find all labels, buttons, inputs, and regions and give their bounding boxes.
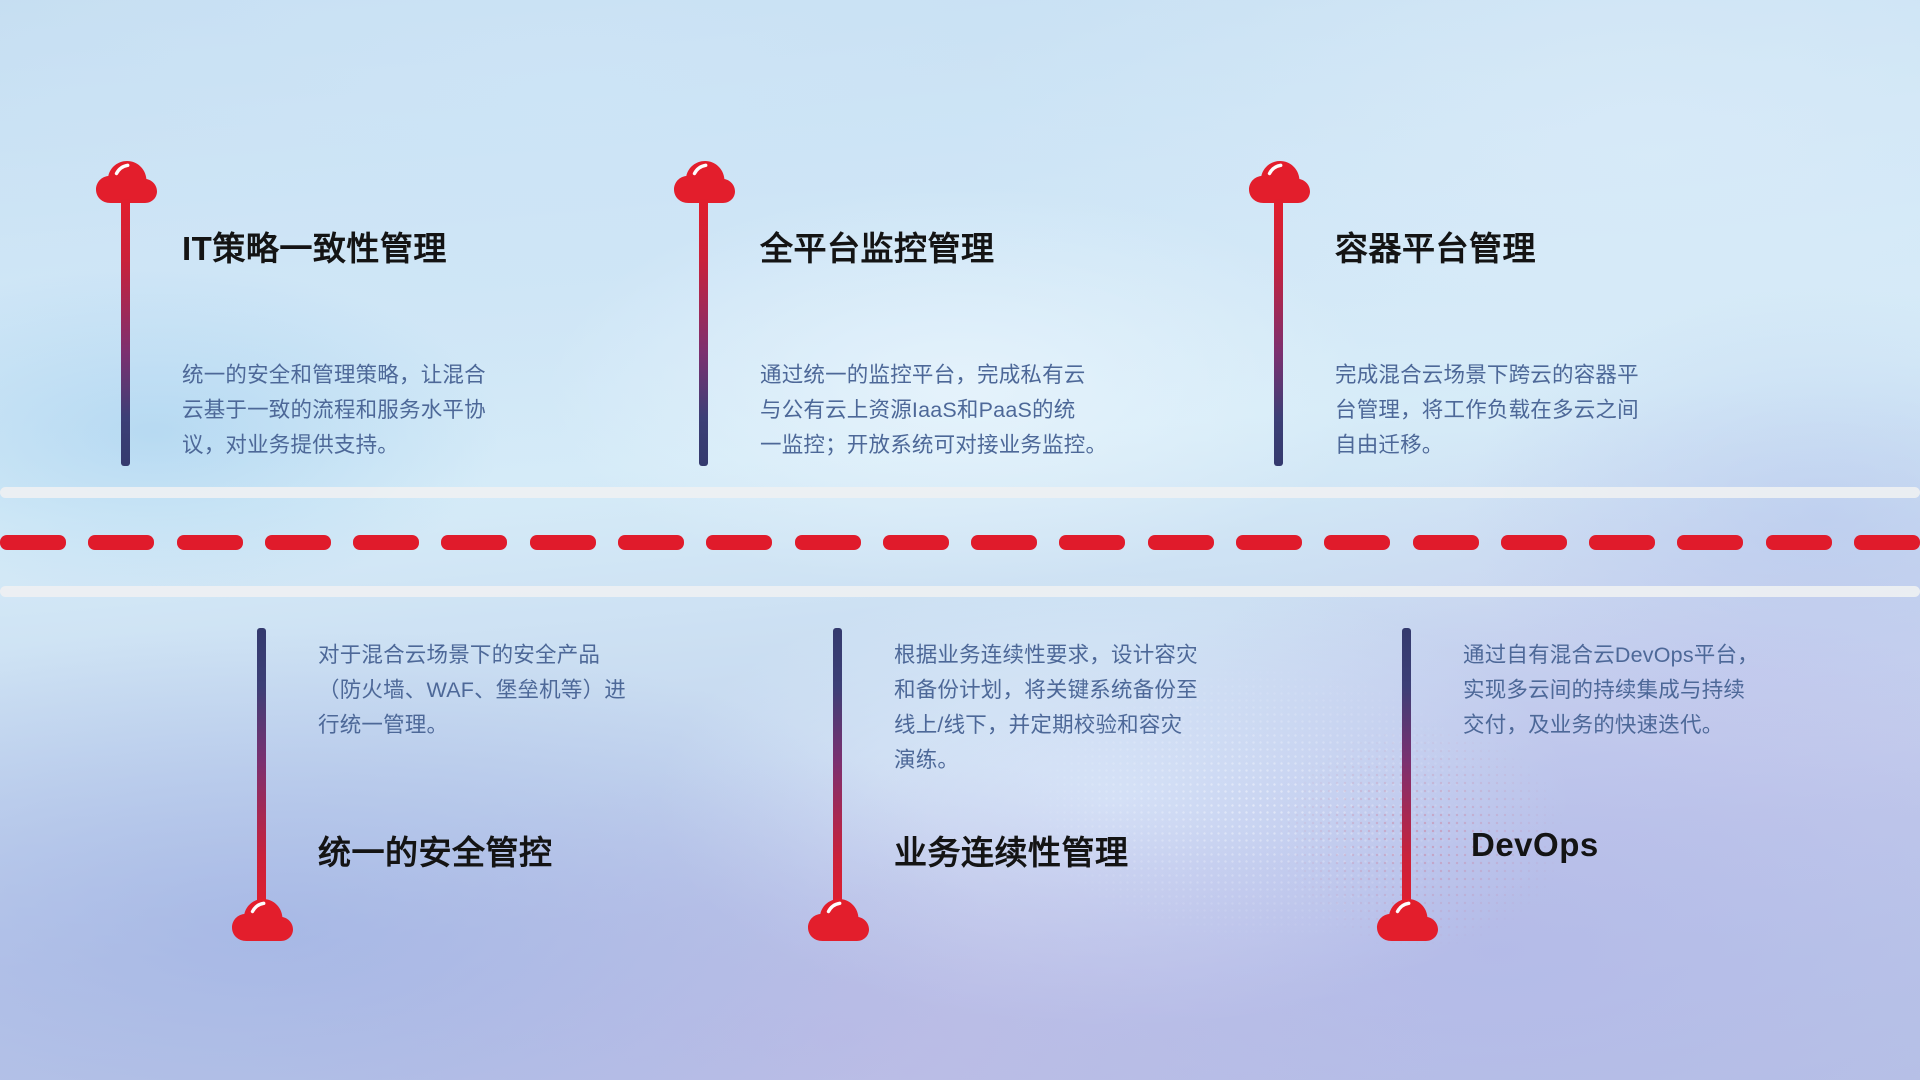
column-body: 根据业务连续性要求，设计容灾 和备份计划，将关键系统备份至 线上/线下，并定期校… (894, 638, 1324, 778)
connector-stem (833, 628, 842, 918)
body-line: 自由迁移。 (1335, 428, 1775, 463)
body-line: （防火墙、WAF、堡垒机等）进 (318, 673, 738, 708)
road-edge-top (0, 487, 1920, 498)
cloud-icon (1376, 898, 1438, 942)
road-dash (1413, 535, 1479, 550)
road-dash (530, 535, 596, 550)
road-dash (0, 535, 66, 550)
road-dash (795, 535, 861, 550)
road-dash (265, 535, 331, 550)
column-body: 统一的安全和管理策略，让混合 云基于一致的流程和服务水平协 议，对业务提供支持。 (182, 358, 622, 463)
body-line: 通过统一的监控平台，完成私有云 (760, 358, 1220, 393)
road-dash (1059, 535, 1125, 550)
body-line: 演练。 (894, 743, 1324, 778)
column-title: DevOps (1471, 826, 1599, 864)
road-dash (1589, 535, 1655, 550)
cloud-icon (231, 898, 293, 942)
road-edge-bottom (0, 586, 1920, 597)
body-line: 对于混合云场景下的安全产品 (318, 638, 738, 673)
body-line: 完成混合云场景下跨云的容器平 (1335, 358, 1775, 393)
road-dash (1677, 535, 1743, 550)
road-dash (1236, 535, 1302, 550)
road-dash-group (0, 535, 1920, 550)
body-line: 议，对业务提供支持。 (182, 428, 622, 463)
column-body: 对于混合云场景下的安全产品 （防火墙、WAF、堡垒机等）进 行统一管理。 (318, 638, 738, 743)
connector-stem (257, 628, 266, 918)
column-body: 通过自有混合云DevOps平台， 实现多云间的持续集成与持续 交付，及业务的快速… (1463, 638, 1883, 743)
road-dash (1766, 535, 1832, 550)
road-dash (353, 535, 419, 550)
column-body: 通过统一的监控平台，完成私有云 与公有云上资源IaaS和PaaS的统 一监控；开… (760, 358, 1220, 463)
body-line: 云基于一致的流程和服务水平协 (182, 393, 622, 428)
road-dash (706, 535, 772, 550)
body-line: 行统一管理。 (318, 708, 738, 743)
body-line: 台管理，将工作负载在多云之间 (1335, 393, 1775, 428)
road-dash (618, 535, 684, 550)
road-dash (177, 535, 243, 550)
body-line: 和备份计划，将关键系统备份至 (894, 673, 1324, 708)
body-line: 一监控；开放系统可对接业务监控。 (760, 428, 1220, 463)
connector-stem (1274, 198, 1283, 466)
body-line: 通过自有混合云DevOps平台， (1463, 638, 1883, 673)
column-body: 完成混合云场景下跨云的容器平 台管理，将工作负载在多云之间 自由迁移。 (1335, 358, 1775, 463)
connector-stem (121, 198, 130, 466)
body-line: 与公有云上资源IaaS和PaaS的统 (760, 393, 1220, 428)
body-line: 线上/线下，并定期校验和容灾 (894, 708, 1324, 743)
connector-stem (1402, 628, 1411, 918)
column-title: 容器平台管理 (1335, 222, 1536, 270)
road-dash (1501, 535, 1567, 550)
column-title: 全平台监控管理 (760, 222, 995, 270)
column-title: 统一的安全管控 (318, 826, 553, 874)
body-line: 根据业务连续性要求，设计容灾 (894, 638, 1324, 673)
connector-stem (699, 198, 708, 466)
column-title: 业务连续性管理 (894, 826, 1129, 874)
body-line: 交付，及业务的快速迭代。 (1463, 708, 1883, 743)
road-dash (1324, 535, 1390, 550)
body-line: 实现多云间的持续集成与持续 (1463, 673, 1883, 708)
column-title: IT策略一致性管理 (182, 222, 447, 270)
body-line: 统一的安全和管理策略，让混合 (182, 358, 622, 393)
road-dash (88, 535, 154, 550)
road-dash (971, 535, 1037, 550)
road-dash (1148, 535, 1214, 550)
road-dash (1854, 535, 1920, 550)
road-dash (441, 535, 507, 550)
cloud-icon (807, 898, 869, 942)
road-dash (883, 535, 949, 550)
road-divider (0, 487, 1920, 597)
